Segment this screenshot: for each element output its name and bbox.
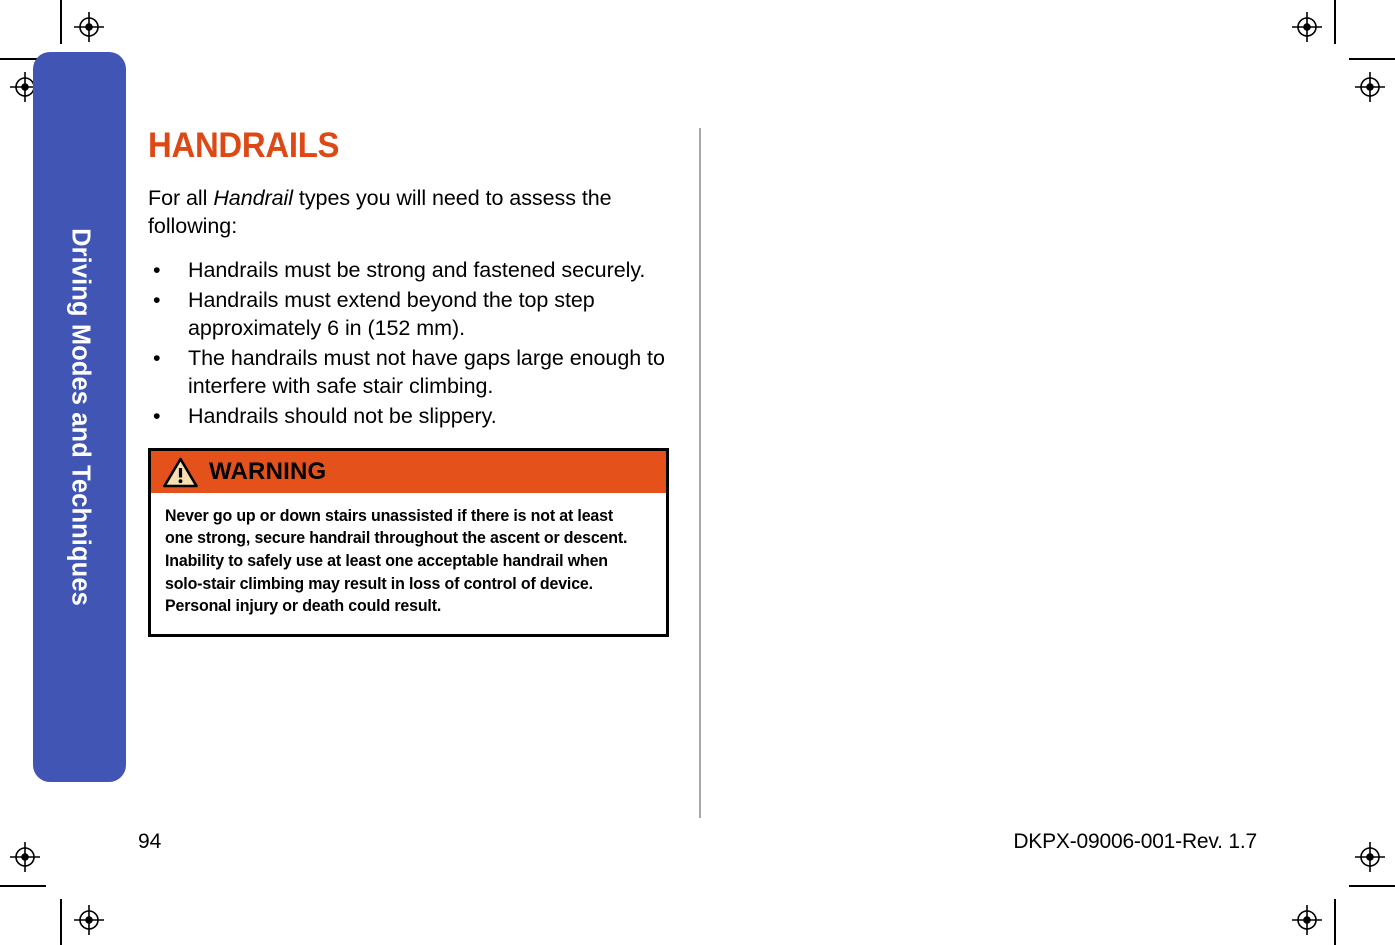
bullet-point-icon: • [153,403,160,431]
chapter-tab-label: Driving Modes and Techniques [65,228,94,606]
intro-text-before: For all [148,186,213,210]
page-title: HANDRAILS [148,128,646,163]
footer-page-number: 94 [138,830,161,854]
registration-target-mark-bottom-right [1290,903,1324,937]
registration-target-mark-lower-left [8,840,42,874]
crop-mark-line-bottom-left-vertical [60,899,62,945]
crop-mark-line-bottom-right-horizontal [1349,885,1395,887]
registration-target-mark-top-left [72,10,106,44]
list-item-label: Handrails should not be slippery. [188,404,497,428]
warning-line: one strong, secure handrail throughout t… [165,527,645,550]
warning-line: Never go up or down stairs unassisted if… [165,505,645,528]
warning-line: solo-stair climbing may result in loss o… [165,573,645,596]
crop-mark-line-bottom-left-horizontal [0,885,46,887]
crop-mark-line-top-right-horizontal [1349,58,1395,60]
bullet-point-icon: • [153,345,160,373]
list-item-label: The handrails must not have gaps large e… [188,346,665,398]
warning-callout-box: WARNING Never go up or down stairs unass… [148,448,669,637]
registration-target-mark-lower-right [1353,840,1387,874]
crop-mark-line-bottom-right-vertical [1334,899,1336,945]
list-item-label: Handrails must be strong and fastened se… [188,258,645,282]
list-item: • Handrails must be strong and fastened … [148,257,678,285]
requirements-bullet-list: • Handrails must be strong and fastened … [148,257,678,431]
crop-mark-line-top-left-vertical [60,0,62,44]
content-column: HANDRAILS For all Handrail types you wil… [148,128,678,637]
list-item: • Handrails should not be slippery. [148,403,678,431]
list-item: • The handrails must not have gaps large… [148,345,678,401]
registration-target-mark-upper-right [1353,70,1387,104]
crop-mark-line-top-right-vertical [1334,0,1336,44]
list-item: • Handrails must extend beyond the top s… [148,287,678,343]
column-divider-rule [699,128,701,818]
intro-emphasis-term: Handrail [213,186,293,210]
warning-triangle-icon [163,457,198,488]
bullet-point-icon: • [153,287,160,315]
registration-target-mark-top-right [1290,10,1324,44]
bullet-point-icon: • [153,257,160,285]
warning-body-text: Never go up or down stairs unassisted if… [151,493,666,634]
warning-line: Personal injury or death could result. [165,595,645,618]
intro-paragraph: For all Handrail types you will need to … [148,185,678,241]
chapter-tab: Driving Modes and Techniques [33,52,126,782]
warning-title: WARNING [209,458,326,486]
warning-line: Inability to safely use at least one acc… [165,550,645,573]
footer-document-id: DKPX-09006-001-Rev. 1.7 [1013,830,1257,854]
registration-target-mark-bottom-left [72,903,106,937]
warning-header-band: WARNING [151,451,666,493]
list-item-label: Handrails must extend beyond the top ste… [188,288,595,340]
document-page: Driving Modes and Techniques HANDRAILS F… [0,0,1395,945]
